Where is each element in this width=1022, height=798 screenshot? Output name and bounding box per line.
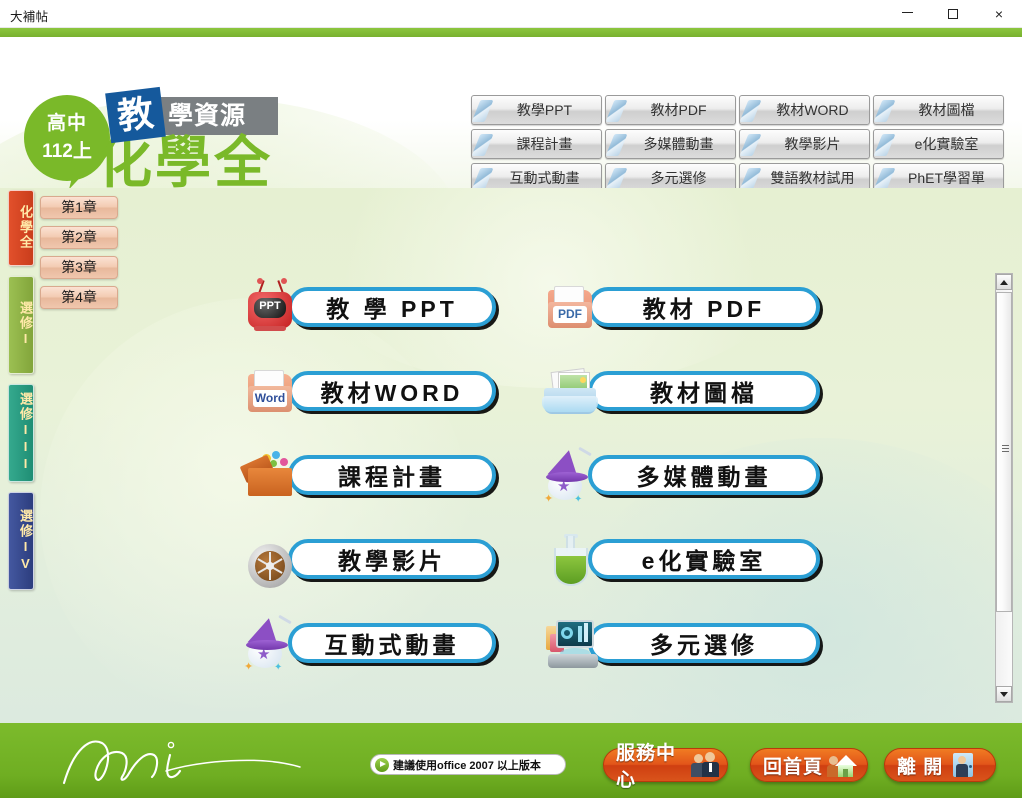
resource-label: 教材圖檔 — [650, 374, 758, 408]
scrollbar-down-button[interactable] — [996, 686, 1012, 702]
nav-button-interactive-animation[interactable]: 互動式動畫 — [471, 163, 602, 188]
toy-box-icon — [240, 446, 302, 504]
resource-button-material-word[interactable]: Word 教材WORD — [240, 362, 540, 420]
nav-button-material-word[interactable]: 教材WORD — [739, 95, 870, 125]
ppt-badge-label: PPT — [254, 300, 286, 312]
window-titlebar: 大補帖 × — [0, 0, 1022, 28]
nav-button-teaching-video[interactable]: 教學影片 — [739, 129, 870, 159]
resource-label: 教學影片 — [338, 542, 446, 576]
slash-icon — [606, 168, 628, 188]
nav-button-label: PhET學習單 — [908, 170, 985, 186]
resource-pill: 教材圖檔 — [588, 371, 820, 411]
service-center-label: 服務中心 — [604, 738, 685, 792]
slash-icon — [606, 100, 628, 122]
chevron-up-icon — [1000, 280, 1008, 285]
window-title: 大補帖 — [10, 6, 48, 25]
home-label: 回首頁 — [751, 752, 823, 779]
nav-button-label: 課程計畫 — [517, 136, 573, 152]
slash-icon — [874, 100, 896, 122]
content-scrollbar[interactable] — [995, 273, 1013, 703]
ppt-tv-icon: PPT — [240, 278, 302, 336]
main-content-area: 化學全 選修I 選修III 選修IV 第1章 第2章 第3章 第4章 PPT 教… — [0, 188, 1022, 723]
resource-button-material-images[interactable]: 教材圖檔 — [540, 362, 870, 420]
resource-button-material-pdf[interactable]: PDF 教材 PDF — [540, 278, 870, 336]
teach-badge: 教 — [105, 87, 166, 143]
chevron-down-icon — [1000, 692, 1008, 697]
page-title: 化學全 — [96, 135, 273, 188]
nav-button-multimedia-animation[interactable]: 多媒體動畫 — [605, 129, 736, 159]
resource-button-multimedia-animation[interactable]: ★ ✦✦ 多媒體動畫 — [540, 446, 870, 504]
maximize-button[interactable] — [930, 0, 976, 28]
home-icon — [829, 752, 857, 778]
nav-button-label: 教材PDF — [651, 102, 707, 118]
nav-button-elab[interactable]: e化實驗室 — [873, 129, 1004, 159]
resource-button-teaching-ppt[interactable]: PPT 教 學 PPT — [240, 278, 540, 336]
maximize-icon — [948, 9, 958, 19]
resource-pill: 教 學 PPT — [288, 287, 496, 327]
resource-button-course-plan[interactable]: 課程計畫 — [240, 446, 540, 504]
monitor-chart-icon — [540, 614, 602, 672]
resource-pill: 課程計畫 — [288, 455, 496, 495]
resource-pill: 多元選修 — [588, 623, 820, 663]
slash-icon — [740, 168, 762, 188]
nav-button-phet-worksheet[interactable]: PhET學習單 — [873, 163, 1004, 188]
resource-pill: 多媒體動畫 — [588, 455, 820, 495]
resource-pill: 教材 PDF — [588, 287, 820, 327]
resource-label: 互動式動畫 — [325, 626, 460, 660]
slash-icon — [472, 100, 494, 122]
resource-banner: 學資源 — [150, 97, 278, 135]
nani-logo — [50, 731, 350, 789]
nav-button-material-images[interactable]: 教材圖檔 — [873, 95, 1004, 125]
resource-label: 教材 PDF — [643, 290, 765, 324]
exit-label: 離 開 — [885, 752, 943, 779]
chapter-list: 第1章 第2章 第3章 第4章 — [40, 196, 118, 316]
nav-button-multi-elective[interactable]: 多元選修 — [605, 163, 736, 188]
slash-icon — [606, 134, 628, 156]
slash-icon — [874, 168, 896, 188]
resource-pill: 教學影片 — [288, 539, 496, 579]
nav-button-label: 雙語教材試用 — [771, 170, 855, 186]
resource-label: e化實驗室 — [642, 542, 767, 576]
home-button[interactable]: 回首頁 — [750, 748, 868, 782]
resource-label: 多媒體動畫 — [637, 458, 772, 492]
nav-button-label: e化實驗室 — [915, 136, 979, 152]
sidebar-tab-label: 選修I — [18, 284, 33, 365]
nav-button-bilingual-trial[interactable]: 雙語教材試用 — [739, 163, 870, 188]
resource-banner-label: 學資源 — [168, 97, 278, 135]
service-center-button[interactable]: 服務中心 — [603, 748, 728, 782]
flask-icon — [540, 530, 602, 588]
resource-pill: 互動式動畫 — [288, 623, 496, 663]
scrollbar-thumb[interactable] — [996, 292, 1012, 612]
nav-button-label: 多元選修 — [651, 170, 707, 186]
header-nav-grid: 教學PPT 教材PDF 教材WORD 教材圖檔 課程計畫 多媒體動畫 教學影片 … — [471, 95, 1011, 188]
chapter-button-4[interactable]: 第4章 — [40, 286, 118, 309]
resource-button-teaching-video[interactable]: 教學影片 — [240, 530, 540, 588]
scrollbar-up-button[interactable] — [996, 274, 1012, 290]
chapter-button-3[interactable]: 第3章 — [40, 256, 118, 279]
exit-door-icon — [949, 752, 977, 778]
sidebar-tab-elective-4[interactable]: 選修IV — [8, 492, 34, 590]
magic-hat-icon: ★ ✦✦ — [540, 446, 602, 504]
slash-icon — [740, 134, 762, 156]
slash-icon — [472, 134, 494, 156]
nav-button-label: 教學PPT — [517, 102, 572, 118]
magic-hat-icon: ★ ✦✦ — [240, 614, 302, 672]
pdf-badge-label: PDF — [553, 307, 587, 321]
resource-label: 多元選修 — [650, 626, 758, 660]
chapter-button-1[interactable]: 第1章 — [40, 196, 118, 219]
resource-label: 教 學 PPT — [326, 290, 458, 324]
nav-button-teaching-ppt[interactable]: 教學PPT — [471, 95, 602, 125]
play-icon — [375, 758, 389, 772]
resource-button-interactive-animation[interactable]: ★ ✦✦ 互動式動畫 — [240, 614, 540, 672]
support-people-icon — [691, 752, 719, 778]
image-tray-icon — [540, 362, 602, 420]
slash-icon — [874, 134, 896, 156]
resource-label: 教材WORD — [321, 374, 464, 408]
minimize-button[interactable] — [884, 0, 930, 28]
pdf-folder-icon: PDF — [540, 278, 602, 336]
sidebar-tab-elective-1[interactable]: 選修I — [8, 276, 34, 374]
slash-icon — [740, 100, 762, 122]
nav-button-material-pdf[interactable]: 教材PDF — [605, 95, 736, 125]
resource-pill: 教材WORD — [288, 371, 496, 411]
sidebar-vertical-tabs: 化學全 選修I 選修III 選修IV — [8, 190, 36, 600]
office-version-note: 建議使用office 2007 以上版本 — [370, 754, 566, 775]
sidebar-tab-label: 選修III — [18, 392, 33, 473]
nav-button-label: 教材WORD — [776, 102, 848, 118]
page-header: 高中 112上 學資源 教 化學全 教學PPT 教材PDF 教材WORD 教材圖… — [0, 37, 1022, 188]
nav-button-course-plan[interactable]: 課程計畫 — [471, 129, 602, 159]
slash-icon — [472, 168, 494, 188]
nav-button-label: 教材圖檔 — [919, 102, 975, 118]
film-reel-icon — [240, 530, 302, 588]
sidebar-tab-label: 化學全 — [18, 198, 33, 257]
nav-button-label: 教學影片 — [785, 136, 841, 152]
scrollbar-grip-icon — [1002, 445, 1009, 452]
teach-badge-label: 教 — [105, 87, 166, 143]
word-badge-label: Word — [253, 391, 287, 405]
chapter-button-2[interactable]: 第2章 — [40, 226, 118, 249]
exit-button[interactable]: 離 開 — [884, 748, 996, 782]
resource-button-multi-elective[interactable]: 多元選修 — [540, 614, 870, 672]
sidebar-tab-elective-3[interactable]: 選修III — [8, 384, 34, 482]
header-green-rule — [0, 28, 1022, 37]
resource-button-grid: PPT 教 學 PPT PDF 教材 PDF — [240, 278, 880, 672]
nav-button-label: 多媒體動畫 — [644, 136, 714, 152]
resource-button-elab[interactable]: e化實驗室 — [540, 530, 870, 588]
resource-pill: e化實驗室 — [588, 539, 820, 579]
resource-label: 課程計畫 — [338, 458, 446, 492]
nav-button-label: 互動式動畫 — [510, 170, 580, 186]
minimize-icon — [902, 12, 913, 13]
close-button[interactable]: × — [976, 0, 1022, 28]
sidebar-tab-chemistry-full[interactable]: 化學全 — [8, 190, 34, 266]
office-version-label: 建議使用office 2007 以上版本 — [393, 757, 541, 773]
word-folder-icon: Word — [240, 362, 302, 420]
sidebar-tab-label: 選修IV — [18, 500, 33, 581]
